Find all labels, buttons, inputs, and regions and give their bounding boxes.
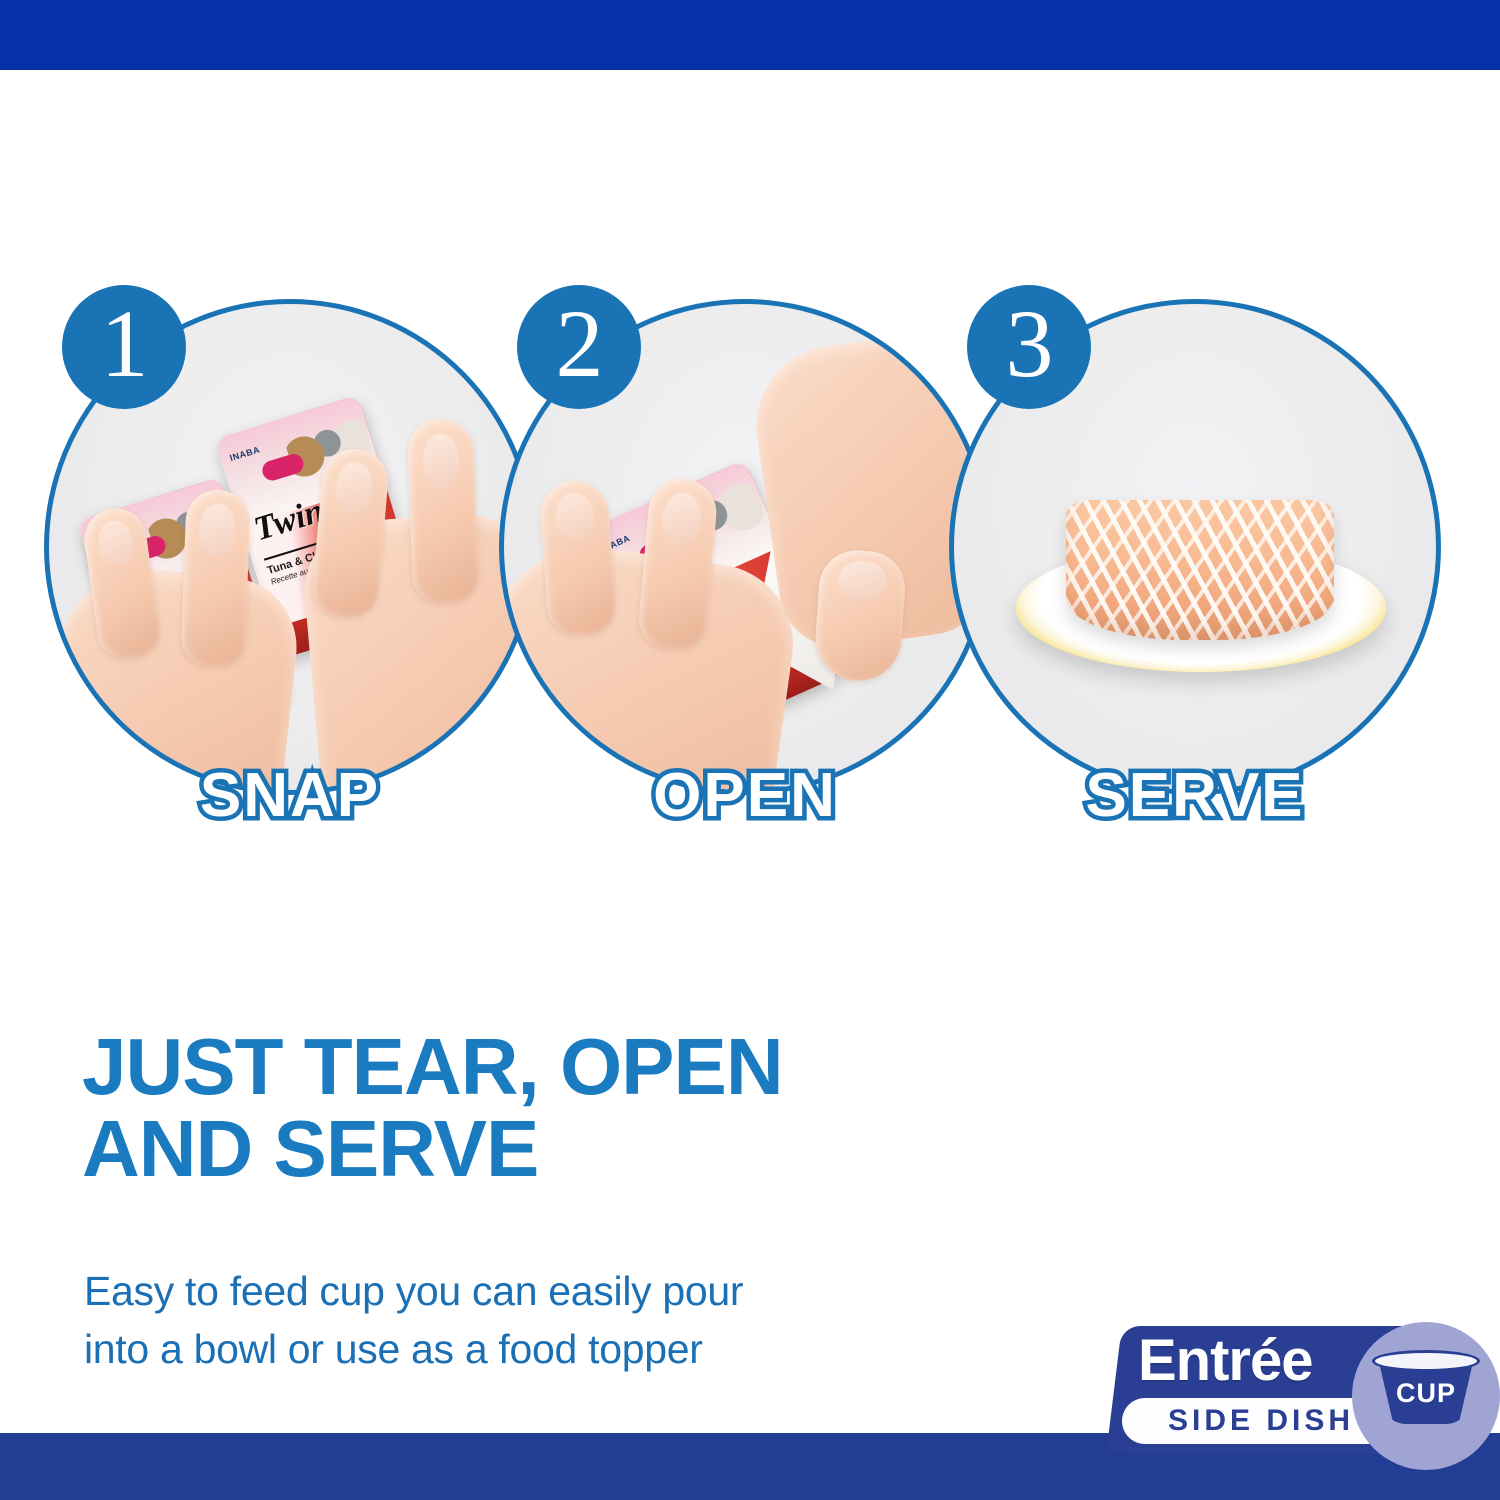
cup-rim-icon: [1372, 1350, 1480, 1372]
subtext-line-2: into a bowl or use as a food topper: [84, 1320, 884, 1378]
finger: [637, 476, 720, 651]
fingernail: [422, 433, 461, 489]
headline-line-1: JUST TEAR, OPEN: [82, 1026, 902, 1108]
steps-row: INABA Twins Tuna & Chicken Recipe Recett…: [0, 285, 1500, 825]
fingernail: [837, 560, 888, 602]
finger: [310, 446, 390, 619]
step-2-caption: OPEN: [499, 760, 991, 831]
subtext: Easy to feed cup you can easily pour int…: [84, 1262, 884, 1378]
entree-side-dish-badge: Entrée SIDE DISH CUP: [1100, 1322, 1500, 1462]
subtext-line-1: Easy to feed cup you can easily pour: [84, 1262, 884, 1320]
entree-title: Entrée: [1138, 1332, 1313, 1390]
step-3: 3 SERVE: [949, 285, 1441, 795]
fingernail: [96, 518, 137, 567]
fingernail: [334, 461, 375, 514]
cup-label: CUP: [1378, 1378, 1474, 1409]
thumb: [813, 548, 908, 684]
step-1: INABA Twins Tuna & Chicken Recipe Recett…: [44, 285, 536, 795]
step-number: 1: [101, 296, 148, 392]
step-number: 3: [1006, 296, 1053, 392]
fingernail: [199, 503, 237, 557]
step-2-number-badge: 2: [517, 285, 641, 409]
finger: [181, 489, 251, 667]
top-accent-bar: [0, 0, 1500, 70]
food-loaf: [1066, 500, 1334, 640]
fingernail: [554, 492, 595, 541]
step-number: 2: [556, 296, 603, 392]
fingernail: [661, 491, 703, 545]
cup-badge-circle: CUP: [1352, 1322, 1500, 1470]
headline-line-2: AND SERVE: [82, 1108, 902, 1190]
step-3-caption: SERVE: [949, 760, 1441, 831]
step-1-caption: SNAP: [44, 760, 536, 831]
step-1-number-badge: 1: [62, 285, 186, 409]
headline: JUST TEAR, OPEN AND SERVE: [82, 1026, 902, 1191]
finger: [407, 417, 479, 603]
finger: [538, 478, 617, 636]
step-2: INABA Twins Tuna & Chicken Recipe Recett…: [499, 285, 991, 795]
step-3-number-badge: 3: [967, 285, 1091, 409]
